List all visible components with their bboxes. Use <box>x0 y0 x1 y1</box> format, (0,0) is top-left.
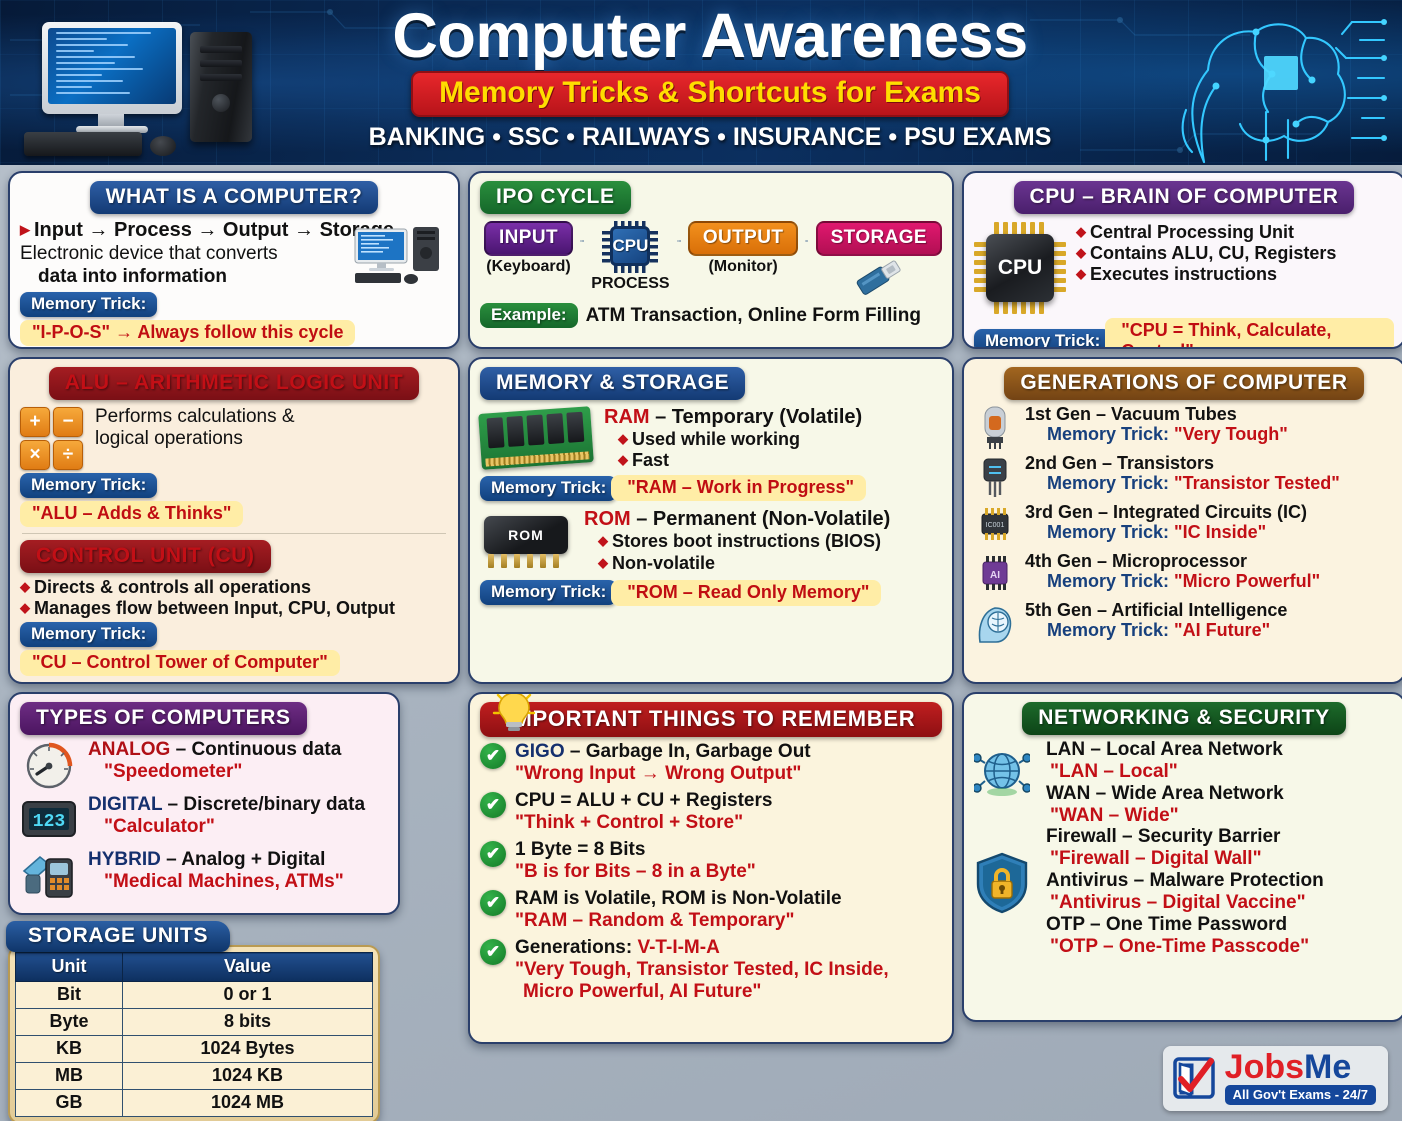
table-row: GB1024 MB <box>16 1090 373 1117</box>
ipo-node-input: INPUT (Keyboard) <box>484 221 573 276</box>
important-item-5: ✔ Generations: V-T-I-M-A "Very Tough, Tr… <box>480 937 942 1003</box>
arithmetic-operators-icon: + − × ÷ <box>20 407 83 470</box>
type-digital-title: DIGITAL – Discrete/binary data <box>88 794 388 816</box>
generation-row-5: 5th Gen – Artificial Intelligence Memory… <box>974 600 1394 646</box>
arrow-right-icon-1 <box>580 233 584 249</box>
page-header: Computer Awareness Memory Tricks & Short… <box>0 0 1402 165</box>
card-alu-and-cu: ALU – ARITHMETIC LOGIC UNIT + − × ÷ Perf… <box>8 357 460 684</box>
networking-item-wan: WAN – Wide Area Network "WAN – Wide" <box>1046 783 1394 827</box>
card-generations-of-computer: GENERATIONS OF COMPUTER 1st Gen – Vacuum… <box>962 357 1402 684</box>
diamond-bullet-icon: ◆ <box>598 555 608 570</box>
generation-row-3: IC001 3rd Gen – Integrated Circuits (IC)… <box>974 502 1394 548</box>
net-sub-otp: "OTP – One-Time Passcode" <box>1046 936 1394 958</box>
important-item-4: ✔ RAM is Volatile, ROM is Non-Volatile "… <box>480 888 942 932</box>
ram-stick-icon <box>478 406 594 470</box>
cell-value: 1024 MB <box>123 1090 373 1117</box>
subtitle-text: Memory Tricks & Shortcuts for Exams <box>439 76 981 109</box>
generation-row-4: AI 4th Gen – Microprocessor Memory Trick… <box>974 551 1394 597</box>
memory-trick-text-alu: "ALU – Adds & Thinks" <box>20 501 243 527</box>
multiply-icon: × <box>20 440 50 470</box>
net-main-otp: OTP – One Time Password <box>1046 914 1394 936</box>
small-computer-icon <box>353 225 449 287</box>
diamond-bullet-icon: ◆ <box>598 533 608 548</box>
diamond-bullet-icon: ◆ <box>1076 224 1086 239</box>
check-circle-icon: ✔ <box>480 743 506 769</box>
generation-title-5: 5th Gen – Artificial Intelligence <box>1025 600 1394 620</box>
card-types-of-computers: TYPES OF COMPUTERS ANALOG – Continuous d <box>8 692 400 915</box>
cell-value: 8 bits <box>123 1009 373 1036</box>
networking-icon-column <box>974 739 1036 957</box>
table-row: Bit0 or 1 <box>16 982 373 1009</box>
type-hybrid-example: "Medical Machines, ATMs" <box>88 871 388 893</box>
memory-trick-label-alu: Memory Trick: <box>20 473 157 498</box>
card-heading-networking: NETWORKING & SECURITY <box>1022 702 1345 735</box>
important-item-2: ✔ CPU = ALU + CU + Registers "Think + Co… <box>480 790 942 834</box>
generation-title-3: 3rd Gen – Integrated Circuits (IC) <box>1025 502 1394 522</box>
input-pill: INPUT <box>484 221 573 256</box>
section-divider <box>22 533 446 534</box>
diamond-bullet-icon: ◆ <box>20 600 30 615</box>
example-text: ATM Transaction, Online Form Filling <box>586 305 921 327</box>
generation-row-2: 2nd Gen – Transistors Memory Trick: "Tra… <box>974 453 1394 499</box>
card-heading-cu: CONTROL UNIT (CU) <box>20 540 271 573</box>
check-circle-icon: ✔ <box>480 890 506 916</box>
cell-unit: Byte <box>16 1009 123 1036</box>
rom-bullet-2: ◆Non-volatile <box>584 553 942 574</box>
card-heading-generations: GENERATIONS OF COMPUTER <box>1004 367 1363 400</box>
net-main-wan: WAN – Wide Area Network <box>1046 783 1394 805</box>
ipo-node-storage: STORAGE <box>816 221 942 300</box>
important-sub-4: "RAM – Random & Temporary" <box>515 910 842 932</box>
important-sub-3: "B is for Bits – 8 in a Byte" <box>515 861 756 883</box>
type-row-analog: ANALOG – Continuous data "Speedometer" <box>20 739 388 789</box>
diamond-bullet-icon: ◆ <box>618 431 628 446</box>
card-heading-alu: ALU – ARITHMETIC LOGIC UNIT <box>49 367 420 400</box>
ai-brain-illustration <box>1146 0 1396 165</box>
ram-title: RAM – Temporary (Volatile) <box>604 406 942 429</box>
net-sub-wan: "WAN – Wide" <box>1046 805 1394 827</box>
important-sub-5b: Micro Powerful, AI Future" <box>515 981 889 1003</box>
generation-title-1: 1st Gen – Vacuum Tubes <box>1025 404 1394 424</box>
card-heading-memory-storage: MEMORY & STORAGE <box>480 367 745 400</box>
generation-row-1: 1st Gen – Vacuum Tubes Memory Trick: "Ve… <box>974 404 1394 450</box>
cell-value: 1024 Bytes <box>123 1036 373 1063</box>
cpu-bullet-3: ◆Executes instructions <box>1076 264 1394 285</box>
cpu-bullet-2: ◆Contains ALU, CU, Registers <box>1076 243 1394 264</box>
card-heading-important: IMPORTANT THINGS TO REMEMBER <box>480 702 942 737</box>
card-heading-ipo-cycle: IPO CYCLE <box>480 181 631 214</box>
cu-bullet-2: ◆Manages flow between Input, CPU, Output <box>20 598 448 619</box>
table-row: Byte8 bits <box>16 1009 373 1036</box>
output-sublabel: (Monitor) <box>688 258 799 276</box>
cpu-bullet-1: ◆Central Processing Unit <box>1076 222 1394 243</box>
ram-bullet-1: ◆Used while working <box>604 429 942 450</box>
example-label: Example: <box>480 303 578 328</box>
net-sub-firewall: "Firewall – Digital Wall" <box>1046 848 1394 870</box>
table-row: KB1024 Bytes <box>16 1036 373 1063</box>
cell-value: 1024 KB <box>123 1063 373 1090</box>
important-main-3: 1 Byte = 8 Bits <box>515 839 756 861</box>
ipo-node-output: OUTPUT (Monitor) <box>688 221 799 276</box>
svg-text:AI: AI <box>990 570 1000 581</box>
net-sub-lan: "LAN – Local" <box>1046 761 1394 783</box>
networking-item-otp: OTP – One Time Password "OTP – One-Time … <box>1046 914 1394 958</box>
card-networking-security: NETWORKING & SECURITY <box>962 692 1402 1022</box>
diamond-bullet-icon: ◆ <box>618 452 628 467</box>
storage-units-section: STORAGE UNITS Unit Value Bit0 or 1 Byte8… <box>8 945 380 1121</box>
usb-drive-icon <box>851 259 907 295</box>
storage-pill: STORAGE <box>816 221 942 256</box>
cell-value: 0 or 1 <box>123 982 373 1009</box>
cu-bullet-1: ◆Directs & controls all operations <box>20 577 448 598</box>
pos-terminal-icon <box>20 849 78 899</box>
important-main-4: RAM is Volatile, ROM is Non-Volatile <box>515 888 842 910</box>
memory-trick-text-ram: "RAM – Work in Progress" <box>611 475 866 501</box>
card-memory-and-storage: MEMORY & STORAGE RAM – Temporary (Volati… <box>468 357 954 684</box>
card-heading-storage-units: STORAGE UNITS <box>6 921 230 952</box>
process-sublabel: PROCESS <box>591 275 669 293</box>
desktop-computer-illustration <box>14 14 264 159</box>
generation-trick-3: Memory Trick: "IC Inside" <box>1025 522 1394 543</box>
ai-brain-head-icon <box>974 600 1016 646</box>
exam-tagline: BANKING • SSC • RAILWAYS • INSURANCE • P… <box>268 123 1152 152</box>
cpu-large-chip-icon: CPU <box>974 222 1066 314</box>
svg-text:IC001: IC001 <box>986 522 1005 529</box>
net-main-lan: LAN – Local Area Network <box>1046 739 1394 761</box>
divide-icon: ÷ <box>53 440 83 470</box>
important-sub-2: "Think + Control + Store" <box>515 812 772 834</box>
col-header-unit: Unit <box>16 953 123 982</box>
generation-trick-4: Memory Trick: "Micro Powerful" <box>1025 571 1394 592</box>
minus-icon: − <box>53 407 83 437</box>
type-hybrid-title: HYBRID – Analog + Digital <box>88 849 388 871</box>
arrow-right-icon-3 <box>805 233 808 249</box>
jobsme-logo[interactable]: JobsMe All Gov't Exams - 24/7 <box>1163 1046 1388 1111</box>
networking-item-lan: LAN – Local Area Network "LAN – Local" <box>1046 739 1394 783</box>
memory-trick-text-1: "I-P-O-S" → Always follow this cycle <box>20 320 355 346</box>
important-item-3: ✔ 1 Byte = 8 Bits "B is for Bits – 8 in … <box>480 839 942 883</box>
digital-display-value: 123 <box>33 812 65 832</box>
memory-trick-text-rom: "ROM – Read Only Memory" <box>611 580 881 606</box>
type-digital-example: "Calculator" <box>88 816 388 838</box>
digital-display-icon: 123 <box>20 794 78 844</box>
networking-item-antivirus: Antivirus – Malware Protection "Antiviru… <box>1046 870 1394 914</box>
card-heading-what-is-computer: WHAT IS A COMPUTER? <box>90 181 379 214</box>
rom-bullet-1: ◆Stores boot instructions (BIOS) <box>584 531 942 552</box>
important-sub-5: "Very Tough, Transistor Tested, IC Insid… <box>515 959 889 981</box>
type-row-digital: 123 DIGITAL – Discrete/binary data "Calc… <box>20 794 388 844</box>
table-row: MB1024 KB <box>16 1063 373 1090</box>
important-sub-1: "Wrong Input → Wrong Output" <box>515 763 811 785</box>
memory-trick-label-1: Memory Trick: <box>20 292 157 317</box>
ipo-example-row: Example: ATM Transaction, Online Form Fi… <box>480 303 942 328</box>
input-sublabel: (Keyboard) <box>484 258 573 276</box>
memory-trick-label-cu: Memory Trick: <box>20 622 157 647</box>
net-main-antivirus: Antivirus – Malware Protection <box>1046 870 1394 892</box>
rom-chip-label: ROM <box>484 516 568 554</box>
triangle-bullet-icon: ▶ <box>20 222 30 237</box>
net-main-firewall: Firewall – Security Barrier <box>1046 826 1394 848</box>
important-main-2: CPU = ALU + CU + Registers <box>515 790 772 812</box>
ipo-node-cpu: CPU PROCESS <box>591 221 669 293</box>
check-circle-icon: ✔ <box>480 939 506 965</box>
storage-units-table: Unit Value Bit0 or 1 Byte8 bits KB1024 B… <box>15 952 373 1117</box>
book-check-icon <box>1171 1055 1217 1101</box>
memory-trick-label-rom: Memory Trick: <box>480 580 617 605</box>
logo-jobs: Jobs <box>1225 1048 1304 1086</box>
cpu-chip-label: CPU <box>610 226 650 266</box>
memory-trick-label-ram: Memory Trick: <box>480 476 617 501</box>
memory-trick-text-cu: "CU – Control Tower of Computer" <box>20 650 340 676</box>
important-main-5: Generations: V-T-I-M-A <box>515 937 889 959</box>
card-ipo-cycle: IPO CYCLE INPUT (Keyboard) <box>468 171 954 349</box>
card-cpu-brain: CPU – BRAIN OF COMPUTER <box>962 171 1402 349</box>
net-sub-antivirus: "Antivirus – Digital Vaccine" <box>1046 892 1394 914</box>
type-analog-example: "Speedometer" <box>88 761 388 783</box>
cpu-chip-icon: CPU <box>602 221 658 273</box>
plus-icon: + <box>20 407 50 437</box>
logo-tagline: All Gov't Exams - 24/7 <box>1225 1085 1376 1105</box>
table-header-row: Unit Value <box>16 953 373 982</box>
cpu-chip-big-label: CPU <box>986 234 1054 302</box>
card-what-is-a-computer: WHAT IS A COMPUTER? ▶Input → Process → O… <box>8 171 460 349</box>
networking-item-firewall: Firewall – Security Barrier "Firewall – … <box>1046 826 1394 870</box>
logo-wordmark: JobsMe <box>1225 1051 1376 1083</box>
ipo-diagram: INPUT (Keyboard) <box>480 221 942 300</box>
generation-title-4: 4th Gen – Microprocessor <box>1025 551 1394 571</box>
check-circle-icon: ✔ <box>480 792 506 818</box>
card-important-things: IMPORTANT THINGS TO REMEMBER ✔ GIGO – Ga… <box>468 692 954 1044</box>
network-globe-icon <box>974 745 1030 801</box>
memory-trick-label-cpu: Memory Trick: <box>974 329 1111 349</box>
speedometer-icon <box>20 739 78 789</box>
transistor-icon <box>974 453 1016 499</box>
alu-desc-line2: logical operations <box>95 428 448 450</box>
subtitle-banner: Memory Tricks & Shortcuts for Exams <box>411 71 1009 117</box>
microprocessor-icon: AI <box>974 551 1016 597</box>
generation-trick-5: Memory Trick: "AI Future" <box>1025 620 1394 641</box>
content-grid: WHAT IS A COMPUTER? ▶Input → Process → O… <box>0 165 1402 1121</box>
left-bottom-stack: TYPES OF COMPUTERS ANALOG – Continuous d <box>8 692 460 1121</box>
important-main-1: GIGO – Garbage In, Garbage Out <box>515 741 811 763</box>
logo-me: Me <box>1304 1048 1351 1086</box>
arrow-right-icon-2 <box>677 233 681 249</box>
cell-unit: Bit <box>16 982 123 1009</box>
important-item-1: ✔ GIGO – Garbage In, Garbage Out "Wrong … <box>480 741 942 785</box>
type-analog-title: ANALOG – Continuous data <box>88 739 388 761</box>
lightbulb-icon <box>492 692 536 733</box>
vacuum-tube-icon <box>974 404 1016 450</box>
check-circle-icon: ✔ <box>480 841 506 867</box>
cell-unit: GB <box>16 1090 123 1117</box>
alu-desc-line1: Performs calculations & <box>95 406 448 428</box>
diamond-bullet-icon: ◆ <box>1076 245 1086 260</box>
ipos-flow-text: Input → Process → Output → Storage <box>34 219 394 241</box>
cell-unit: KB <box>16 1036 123 1063</box>
cell-unit: MB <box>16 1063 123 1090</box>
rom-title: ROM – Permanent (Non-Volatile) <box>584 508 942 531</box>
memory-trick-text-cpu: "CPU = Think, Calculate, Control" <box>1105 318 1394 349</box>
generation-title-2: 2nd Gen – Transistors <box>1025 453 1394 473</box>
col-header-value: Value <box>123 953 373 982</box>
page-title: Computer Awareness <box>268 4 1152 68</box>
rom-chip-icon: ROM <box>480 514 572 570</box>
firewall-shield-lock-icon <box>974 852 1030 914</box>
storage-units-table-wrap: STORAGE UNITS Unit Value Bit0 or 1 Byte8… <box>8 945 380 1121</box>
header-title-block: Computer Awareness Memory Tricks & Short… <box>268 4 1152 152</box>
card-heading-cpu: CPU – BRAIN OF COMPUTER <box>1014 181 1355 214</box>
type-row-hybrid: HYBRID – Analog + Digital "Medical Machi… <box>20 849 388 899</box>
diamond-bullet-icon: ◆ <box>1076 266 1086 281</box>
card-heading-types: TYPES OF COMPUTERS <box>20 702 307 735</box>
generation-trick-2: Memory Trick: "Transistor Tested" <box>1025 473 1394 494</box>
generation-trick-1: Memory Trick: "Very Tough" <box>1025 424 1394 445</box>
diamond-bullet-icon: ◆ <box>20 579 30 594</box>
ram-bullet-2: ◆Fast <box>604 450 942 471</box>
ic-chip-icon: IC001 <box>974 502 1016 548</box>
output-pill: OUTPUT <box>688 221 799 256</box>
